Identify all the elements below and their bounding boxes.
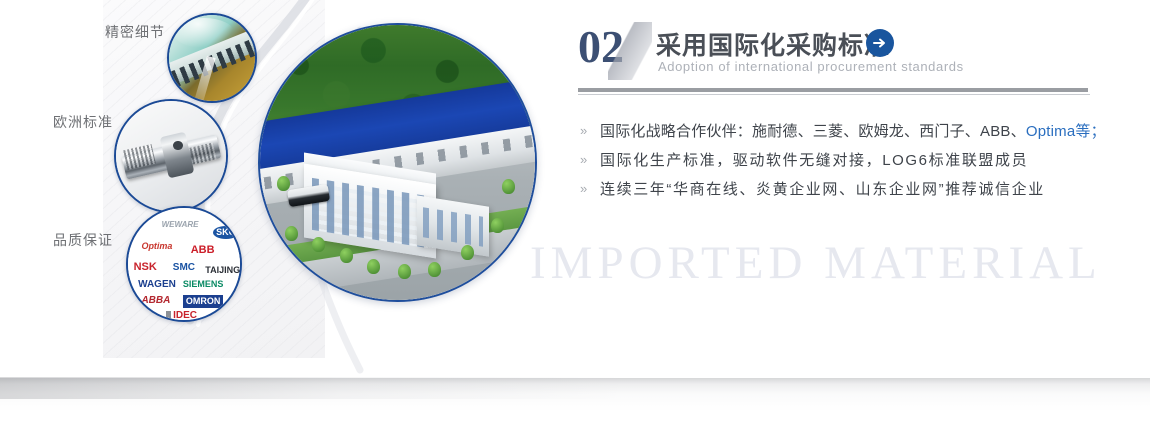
photo-tree	[398, 264, 411, 279]
brand-logo: IDEC	[166, 311, 197, 321]
list-item-highlight: Optima等；	[1026, 123, 1106, 140]
list-item: »国际化生产标准，驱动软件无缝对接，LOG6标准联盟成员	[580, 149, 1090, 178]
brand-logo: SMC	[173, 263, 195, 273]
list-item-text: 国际化战略合作伙伴：施耐德、三菱、欧姆龙、西门子、ABB、	[600, 123, 1026, 140]
brand-logo: WAGEN	[138, 280, 176, 290]
label-quality-assurance: 品质保证	[53, 230, 113, 250]
photo-tree	[491, 218, 504, 233]
list-item-text: 国际化生产标准，驱动软件无缝对接，LOG6标准联盟成员	[600, 152, 1028, 169]
brand-logo: SKO	[213, 226, 239, 239]
page-subtitle: Adoption of international procurement st…	[658, 59, 964, 74]
list-item: »连续三年“华商在线、炎黄企业网、山东企业网”推荐诚信企业	[580, 178, 1090, 207]
feature-bullet-list: »国际化战略合作伙伴：施耐德、三菱、欧姆龙、西门子、ABB、Optima等；»国…	[580, 120, 1090, 207]
photo-tree	[277, 176, 290, 191]
header-divider-thin	[578, 94, 1090, 95]
brand-logo: TAIJING	[205, 266, 240, 275]
list-item-label: 连续三年“华商在线、炎黄企业网、山东企业网”推荐诚信企业	[600, 178, 1045, 199]
brand-logo: OMRON	[183, 295, 224, 308]
ball-screw-circle	[114, 99, 228, 213]
list-item-text: 连续三年“华商在线、炎黄企业网、山东企业网”推荐诚信企业	[600, 181, 1045, 198]
label-european-standard: 欧洲标准	[53, 112, 113, 132]
bottom-shadow-sweep	[0, 377, 620, 399]
arrow-right-circle-icon[interactable]	[866, 29, 894, 57]
brand-logos-circle: WEWARESKOOptimaABBNSKSMCTAIJINGWAGENSIEM…	[126, 206, 242, 322]
photo-tree	[285, 226, 298, 241]
content-column: 02 采用国际化采购标准 Adoption of international p…	[578, 26, 1098, 84]
list-item-label: 国际化生产标准，驱动软件无缝对接，LOG6标准联盟成员	[600, 149, 1028, 170]
page-title: 采用国际化采购标准	[656, 26, 890, 62]
photo-tree	[461, 245, 474, 260]
gear-highlight	[174, 18, 234, 47]
photo-tree	[312, 237, 325, 252]
chevron-double-right-icon: »	[580, 181, 587, 196]
list-item: »国际化战略合作伙伴：施耐德、三菱、欧姆龙、西门子、ABB、Optima等；	[580, 120, 1090, 149]
gear-detail-circle	[167, 13, 257, 103]
section-number: 02	[578, 24, 624, 70]
section-header: 02 采用国际化采购标准 Adoption of international p…	[578, 26, 1098, 84]
factory-building-photo	[258, 23, 537, 302]
promo-banner: 精密细节 欧洲标准 品质保证 WEWARESKOOptimaABBNSKSMCT…	[0, 0, 1150, 430]
photo-tree	[502, 179, 515, 194]
brand-logo: Optima	[141, 242, 172, 251]
chevron-double-right-icon: »	[580, 123, 587, 138]
list-item-label: 国际化战略合作伙伴：施耐德、三菱、欧姆龙、西门子、ABB、Optima等；	[600, 120, 1106, 141]
header-divider-thick	[578, 88, 1088, 92]
chevron-double-right-icon: »	[580, 152, 587, 167]
photo-tree	[428, 262, 441, 277]
photo-tree	[340, 248, 353, 263]
brand-logo: SIEMENS	[183, 280, 224, 289]
brand-logo: WEWARE	[162, 221, 199, 229]
photo-tree	[367, 259, 380, 274]
brand-logo: NSK	[134, 262, 157, 273]
watermark-text: IMPORTED MATERIAL	[530, 236, 1102, 290]
brand-logo: ABBA	[141, 296, 170, 306]
brand-logo: ABB	[191, 245, 215, 256]
label-precision-detail: 精密细节	[105, 22, 165, 42]
